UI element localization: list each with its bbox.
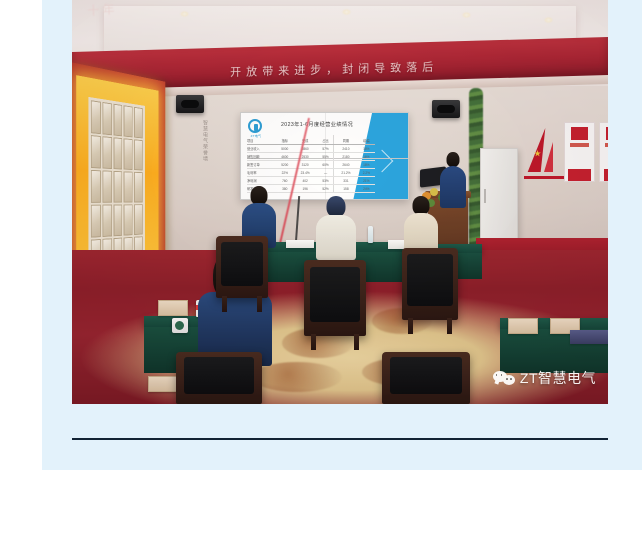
sail-large (528, 128, 546, 172)
certificate (91, 135, 101, 168)
wall-vertical-text: 智慧电气荣誉墙 (198, 120, 208, 190)
attendee-seated (316, 196, 356, 260)
slide-data-table: 项目 指标 完成 占比 同期 增幅 营业收入 5000 2860 (247, 137, 375, 193)
wechat-icon (493, 369, 515, 387)
downlight (180, 11, 189, 17)
table-cell: 24% (358, 187, 375, 191)
certificate (134, 204, 143, 235)
certificate (113, 137, 122, 169)
table-cell: 5200 (276, 163, 293, 167)
poster-badge (571, 127, 589, 140)
certificate (91, 100, 101, 134)
certificate (102, 205, 111, 237)
chair-backrest (310, 267, 361, 322)
wall-poster-panels (564, 122, 608, 182)
chair (216, 236, 268, 298)
table-cell: 60% (317, 163, 334, 167)
chair-backrest (184, 357, 255, 394)
wall-speaker (432, 100, 460, 118)
table-cell: 196 (296, 187, 313, 191)
certificate (91, 170, 101, 203)
certificate (102, 136, 111, 169)
watermark-text: ZT智慧电气 (520, 368, 596, 388)
table-cell: 21.2% (337, 171, 354, 175)
table-cell: 23.4% (296, 171, 313, 175)
poster-lines (570, 143, 589, 147)
certificate (134, 139, 143, 170)
flower (430, 188, 438, 196)
chair-backrest (390, 357, 462, 394)
water-bottle (368, 226, 373, 243)
table-cell: 21% (358, 179, 375, 183)
chair-leg (354, 334, 359, 350)
certificate (102, 102, 111, 135)
table-cell: 158 (337, 187, 354, 191)
certificate (124, 105, 133, 137)
sail-small (544, 142, 553, 172)
chair-backrest (407, 254, 453, 306)
attendee-seated (404, 196, 438, 256)
certificate (113, 204, 122, 236)
table-header-cell: 同期 (337, 138, 354, 143)
screen-seam (325, 113, 326, 199)
certificate (91, 205, 101, 238)
table-cell: 2.2% (358, 171, 375, 175)
carpet-motif (252, 362, 342, 392)
certificate-grid (88, 97, 145, 276)
company-logo-icon (248, 119, 262, 133)
table-row: 净利润 760 402 53% 331 21% (247, 177, 375, 185)
table-header-cell: 指标 (276, 138, 293, 143)
chair-leg (222, 296, 227, 312)
poster-foot (604, 169, 608, 181)
chair-leg (408, 318, 413, 334)
presenter (440, 152, 466, 208)
wall-speaker (176, 95, 204, 113)
sail-base (524, 176, 568, 179)
presenter-head (447, 152, 460, 167)
name-card (158, 300, 188, 316)
poster-foot (568, 169, 591, 181)
table-cell: 2410 (337, 147, 354, 151)
table-cell: 2860 (296, 147, 313, 151)
table-cell: 营业收入 (247, 146, 273, 151)
table-cell: 18% (358, 163, 375, 167)
certificate (113, 104, 122, 137)
presenter-body (440, 166, 466, 208)
poster-badge (606, 127, 608, 140)
table-cell: 2640 (337, 163, 354, 167)
certificate (102, 170, 111, 202)
table-cell: 新签订单 (247, 162, 273, 167)
table-cell: 16% (358, 155, 375, 159)
horizontal-divider (72, 438, 608, 440)
downlight (462, 12, 471, 18)
photo-canvas: 十年 开放带来进步，封闭导致落后 (72, 0, 608, 404)
document-stack (570, 330, 608, 344)
table-row: 营业收入 5000 2860 57% 2410 18% (247, 145, 375, 153)
chair-backrest (221, 242, 264, 287)
table-cell: 18% (358, 147, 375, 151)
table-cell: 2180 (337, 155, 354, 159)
attendee-head (327, 196, 346, 217)
chair-leg (447, 318, 452, 334)
table-cell: 55% (317, 155, 334, 159)
table-cell: 402 (296, 179, 313, 183)
poster-lines (605, 143, 608, 147)
table-cell: 4600 (276, 155, 293, 159)
table-cell: 57% (317, 147, 334, 151)
chair-leg (257, 296, 262, 312)
table-cell: 53% (317, 179, 334, 183)
certificate (124, 171, 133, 202)
certificate (134, 107, 143, 139)
wechat-watermark: ZT智慧电气 (493, 368, 596, 388)
attendee-body (316, 215, 356, 260)
table-header-cell: 占比 (317, 138, 334, 143)
table-cell: 销售回款 (247, 154, 273, 159)
slide-title: 2023年1-6月度经营业绩情况 (281, 121, 377, 130)
chair-leg (311, 334, 316, 350)
table-row: 销售回款 4600 2530 55% 2180 16% (247, 153, 375, 161)
table-row: 毛利率 22% 23.4% — 21.2% 2.2% (247, 169, 375, 177)
coffee-mug (172, 318, 188, 333)
certificate (124, 138, 133, 170)
conference-room-photo: 十年 开放带来进步，封闭导致落后 (72, 0, 608, 404)
chair (382, 352, 470, 404)
table-header-cell: 增幅 (358, 138, 375, 143)
table-cell: 52% (317, 187, 334, 191)
table-cell: — (317, 171, 334, 175)
chair (176, 352, 262, 404)
white-cabinet (480, 148, 518, 248)
wall-poster (564, 122, 595, 182)
certificate (113, 171, 122, 203)
table-cell: 毛利率 (247, 170, 273, 175)
name-card (148, 376, 178, 392)
banner-left-text: 十年 (87, 0, 175, 55)
party-sail-decoration (524, 128, 568, 176)
wall-poster (599, 122, 608, 182)
document-stack (286, 240, 314, 248)
room-scene: 十年 开放带来进步，封闭导致落后 (72, 0, 608, 404)
certificate (124, 204, 133, 235)
downlight (342, 9, 351, 15)
table-cell: 5000 (276, 147, 293, 151)
table-cell: 22% (276, 171, 293, 175)
chair (304, 260, 366, 336)
downlight (544, 17, 553, 23)
certificate (134, 172, 143, 203)
table-cell: 331 (337, 179, 354, 183)
table-header-row: 项目 指标 完成 占比 同期 增幅 (247, 137, 375, 145)
table-cell: 760 (276, 179, 293, 183)
table-cell: 净利润 (247, 178, 273, 183)
name-card (508, 318, 538, 334)
chair (402, 248, 458, 320)
page-root: 十年 开放带来进步，封闭导致落后 (0, 0, 642, 539)
table-header-cell: 项目 (247, 138, 273, 143)
table-row: 新签订单 5200 3120 60% 2640 18% (247, 161, 375, 169)
